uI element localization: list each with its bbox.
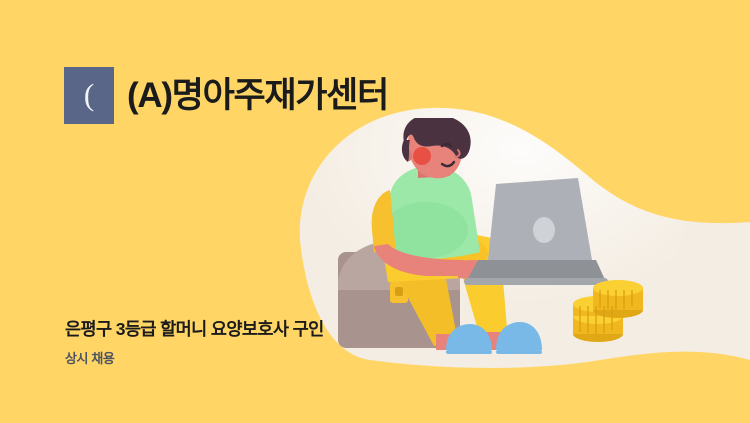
laptop-logo	[533, 217, 555, 243]
laptop	[464, 178, 608, 285]
job-posting-card: ( (A)명아주재가센터	[0, 0, 750, 423]
job-headline: 은평구 3등급 할머니 요양보호사 구인	[65, 319, 324, 340]
copy-block: 은평구 3등급 할머니 요양보호사 구인 상시 채용	[65, 319, 324, 367]
cheek-blush	[413, 147, 431, 165]
laptop-base-edge	[464, 278, 608, 285]
coin-stack	[573, 280, 643, 342]
parenthesis-logo-mark: (	[64, 67, 114, 124]
logo-glyph: (	[84, 79, 94, 110]
person-head	[402, 118, 471, 178]
shoe-ground-shadow-left	[446, 350, 492, 354]
person-sitting-with-laptop-illustration	[330, 118, 660, 368]
hiring-status-label: 상시 채용	[65, 351, 324, 367]
brand-title: (A)명아주재가센터	[127, 78, 388, 113]
shoe-ground-shadow-right	[496, 350, 542, 354]
briefcase-clasp-inner	[395, 287, 403, 296]
shirt-texture-speckle	[384, 202, 468, 258]
brand-row: ( (A)명아주재가센터	[64, 67, 388, 124]
